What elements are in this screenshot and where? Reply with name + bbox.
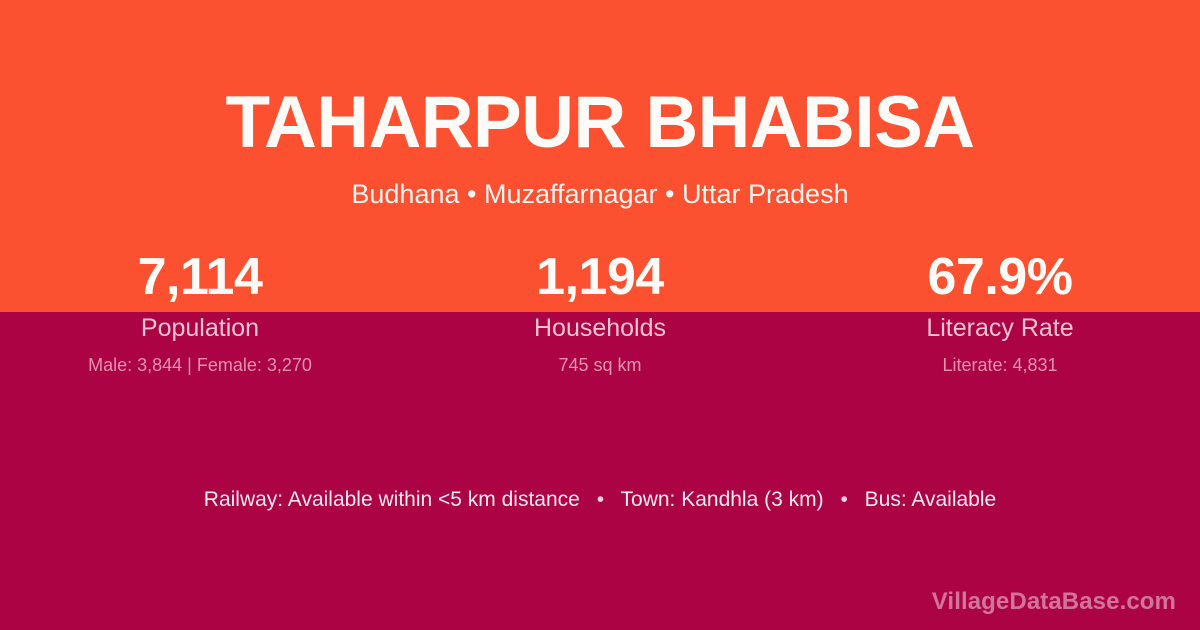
amenity-town: Town: Kandhla (3 km) [621,488,824,511]
stat-sub-literacy-rate: Literate: 4,831 [800,355,1200,376]
stat-literacy-rate: 67.9% Literacy Rate Literate: 4,831 [800,248,1200,376]
stat-sub-population: Male: 3,844 | Female: 3,270 [0,355,400,376]
stat-value-population: 7,114 [0,248,400,306]
stat-value-households: 1,194 [400,248,800,306]
stat-label-households: Households [400,314,800,342]
amenity-separator-1: • [586,488,615,511]
breadcrumb: Budhana • Muzaffarnagar • Uttar Pradesh [0,159,1200,208]
page-title: TAHARPUR BHABISA [0,0,1200,159]
village-info-card: TAHARPUR BHABISA Budhana • Muzaffarnagar… [0,0,1200,630]
stat-value-literacy-rate: 67.9% [800,248,1200,306]
amenities-summary: Railway: Available within <5 km distance… [0,487,1200,513]
stats-row: 7,114 Population Male: 3,844 | Female: 3… [0,248,1200,376]
stat-sub-households: 745 sq km [400,355,800,376]
stat-households: 1,194 Households 745 sq km [400,248,800,376]
amenity-separator-2: • [829,488,858,511]
stat-label-population: Population [0,314,400,342]
stat-label-literacy-rate: Literacy Rate [800,314,1200,342]
site-watermark: VillageDataBase.com [932,588,1176,616]
amenity-railway: Railway: Available within <5 km distance [204,488,580,511]
amenity-bus: Bus: Available [865,488,997,511]
stat-population: 7,114 Population Male: 3,844 | Female: 3… [0,248,400,376]
card-header: TAHARPUR BHABISA Budhana • Muzaffarnagar… [0,0,1200,208]
